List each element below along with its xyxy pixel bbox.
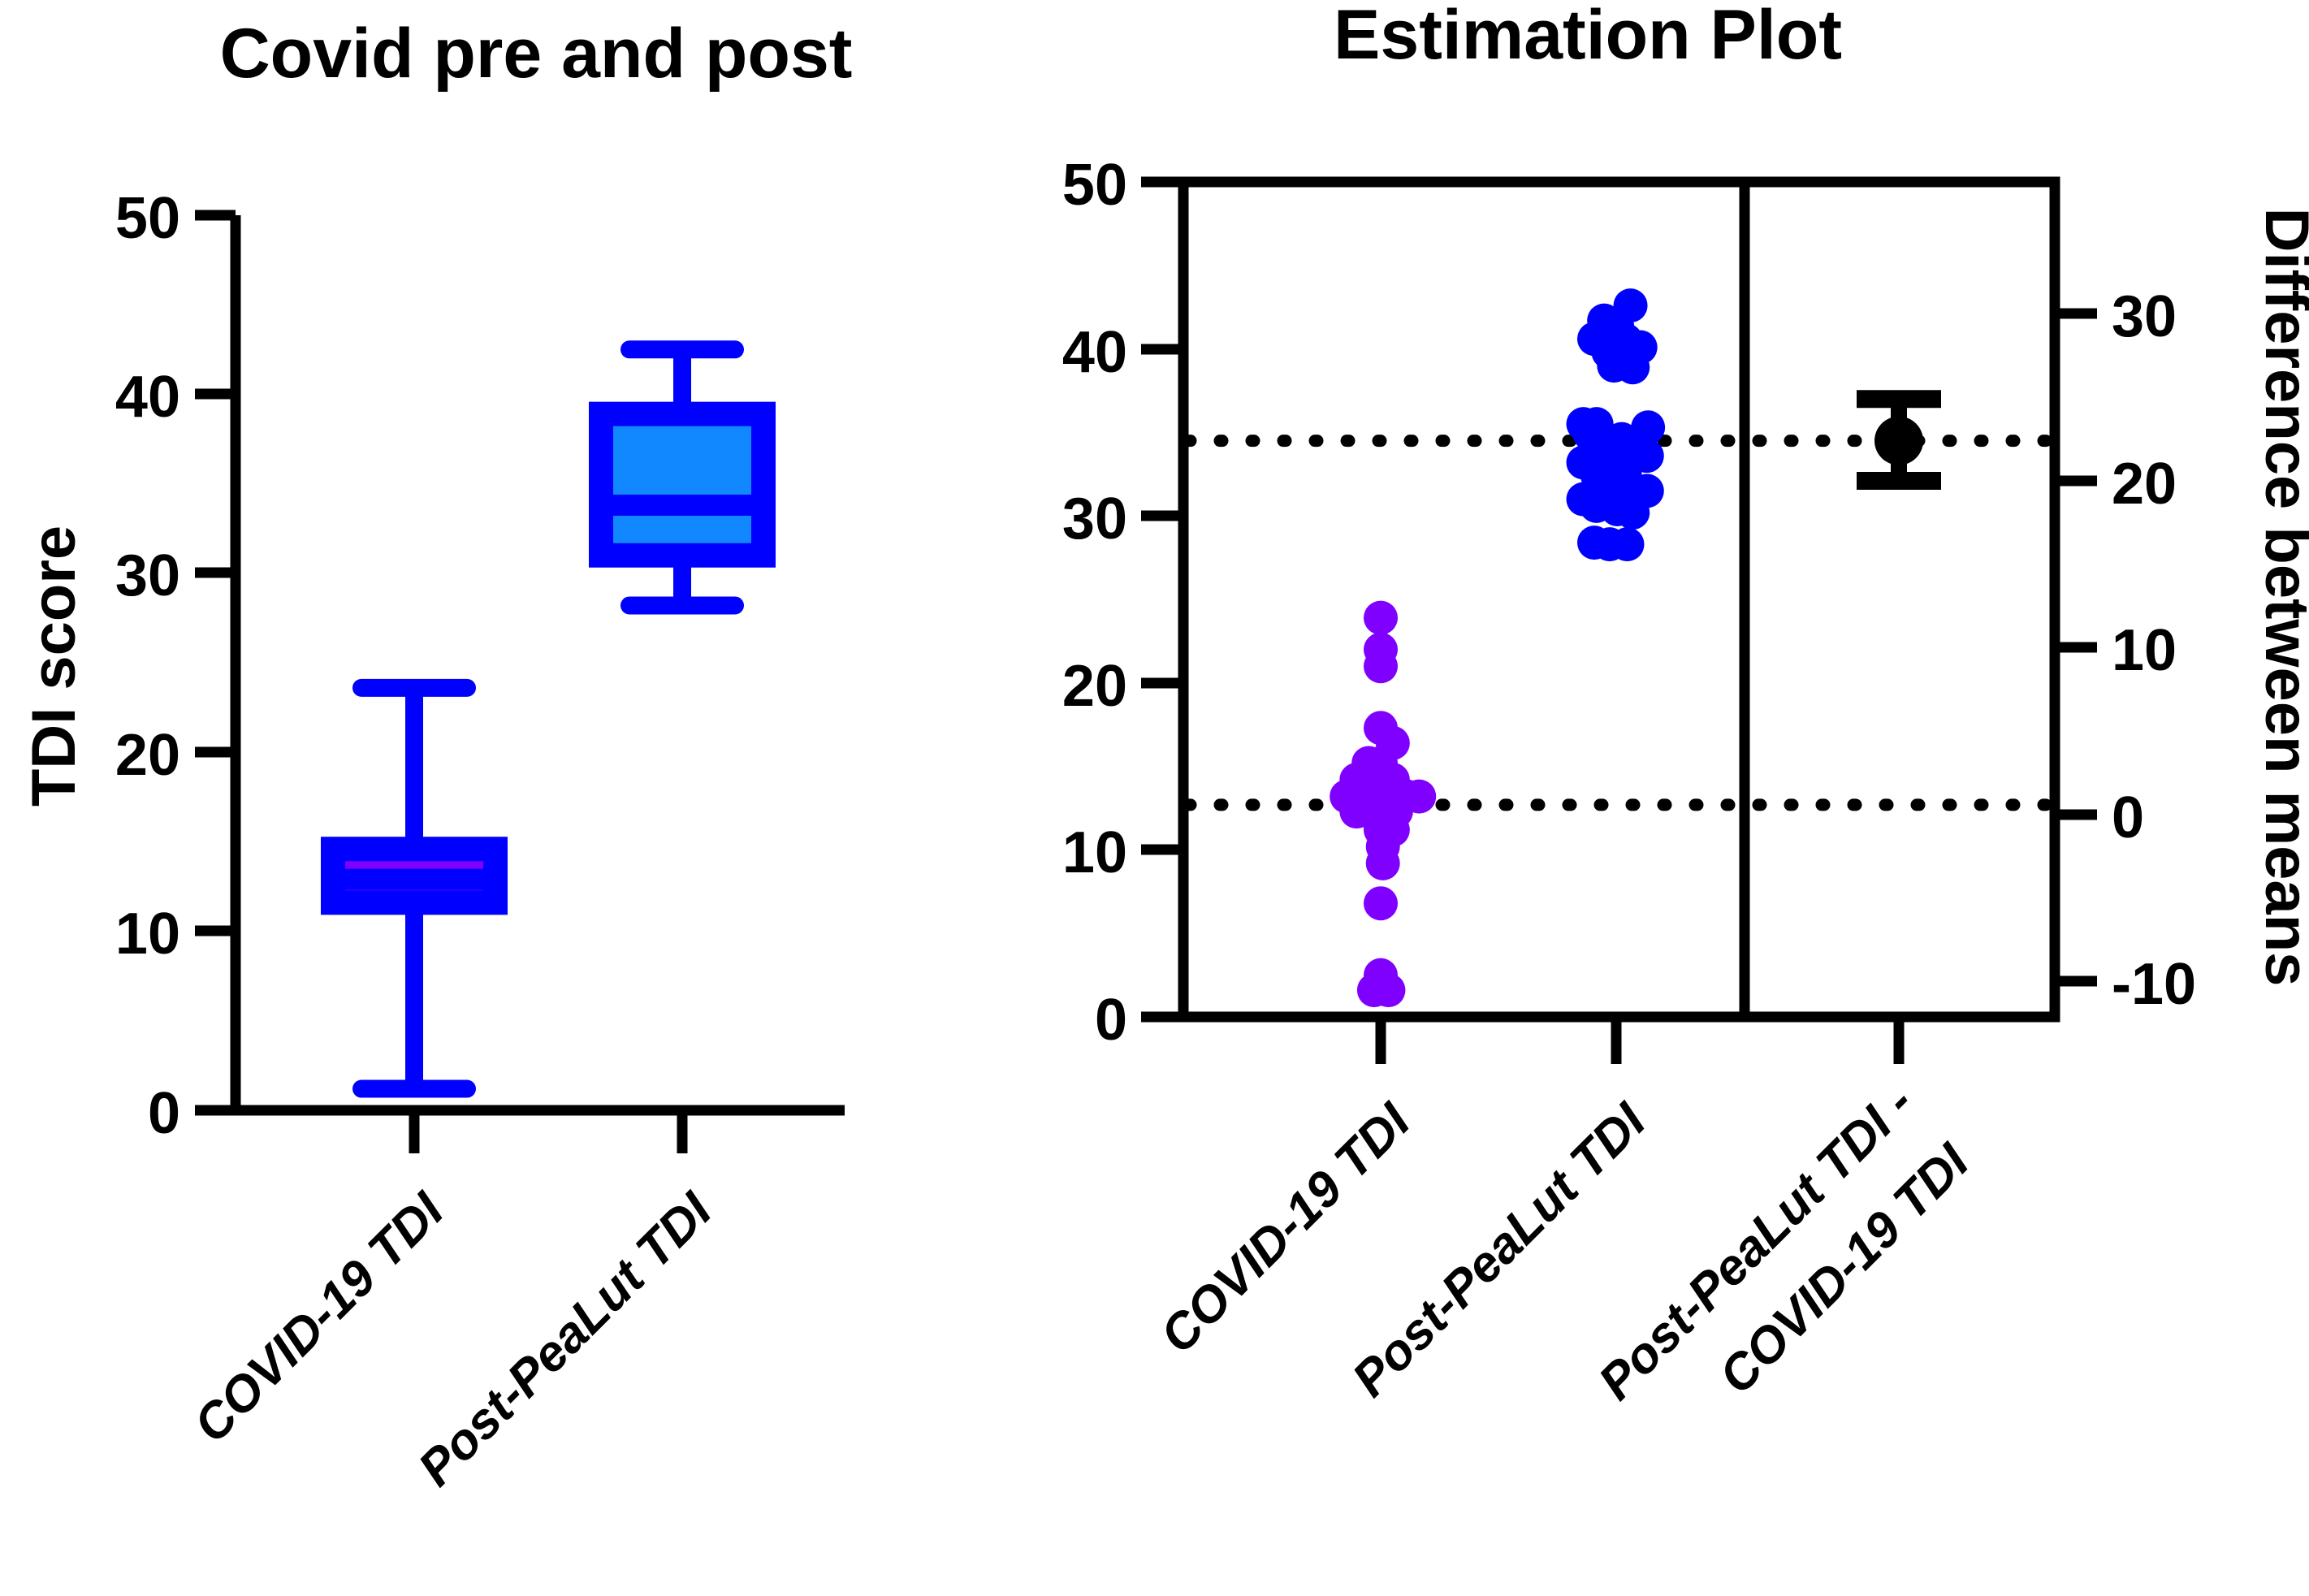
data-point (1366, 846, 1400, 880)
left-ytick-label-30: 30 (115, 543, 180, 608)
data-point (1364, 601, 1398, 635)
figure-root: Covid pre and post 50 40 30 20 10 0 TDI … (0, 0, 2309, 1596)
iqr-box (601, 414, 763, 556)
right-ytick-label-50: 50 (1062, 153, 1127, 218)
right-ytick-label-40: 40 (1062, 320, 1127, 385)
data-point (1364, 649, 1398, 683)
right-ytick-label-30: 30 (1062, 487, 1127, 551)
right2-ytick-label-10: 10 (2112, 618, 2177, 683)
right2-ytick-label-20: 20 (2112, 452, 2177, 517)
right-ytick-label-20: 20 (1062, 654, 1127, 719)
right-panel-title: Estimation Plot (1334, 0, 1842, 74)
right2-ytick-label-0: 0 (2112, 785, 2144, 850)
data-point (1364, 886, 1398, 920)
left-y-axis-label: TDI score (19, 526, 89, 807)
right-y-axis-label: Difference between means (2252, 208, 2309, 987)
left-ytick-label-0: 0 (148, 1081, 180, 1146)
left-ytick-label-20: 20 (115, 723, 180, 788)
left-panel-title: Covid pre and post (220, 15, 853, 93)
figure-background (0, 0, 2309, 1596)
left-ytick-label-50: 50 (115, 186, 180, 251)
data-point (1611, 527, 1645, 561)
data-point (1615, 495, 1650, 530)
left-ytick-label-10: 10 (115, 902, 180, 967)
right-ytick-label-0: 0 (1095, 988, 1127, 1053)
difference-mean-dot (1874, 417, 1923, 465)
left-ytick-label-40: 40 (115, 365, 180, 430)
data-point (1371, 973, 1405, 1007)
data-point (1615, 350, 1650, 384)
right2-ytick-label-m10: -10 (2112, 952, 2196, 1017)
right-ytick-label-10: 10 (1062, 820, 1127, 885)
right2-ytick-label-30: 30 (2112, 284, 2177, 349)
